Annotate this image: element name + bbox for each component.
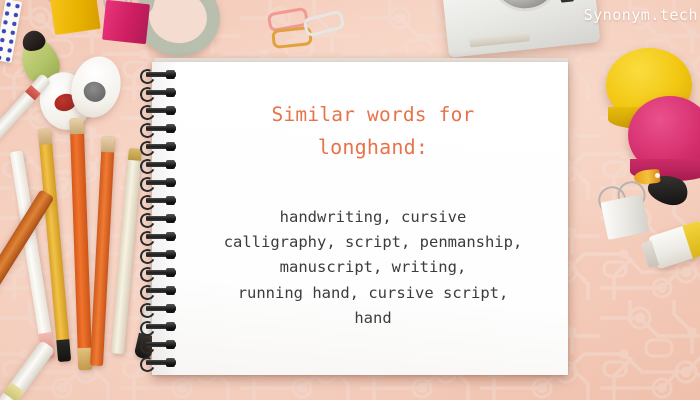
spiral-coil — [140, 160, 184, 169]
glue-tube-label — [682, 220, 700, 258]
macaron-pink — [628, 96, 700, 174]
synonym-line: hand — [186, 306, 560, 331]
spiral-coil — [140, 178, 184, 187]
camera-flash — [560, 0, 574, 3]
eraser-gray-center — [81, 79, 108, 104]
spiral-coil — [140, 142, 184, 151]
toucan-eye — [655, 173, 660, 178]
pencil-tip — [38, 128, 52, 145]
pencil-tip — [101, 136, 115, 153]
similar-words-heading: Similar words for — [186, 100, 560, 130]
spiral-coil — [140, 340, 184, 349]
spiral-coil — [140, 322, 184, 331]
synonym-list: handwriting, cursive calligraphy, script… — [186, 205, 560, 331]
spiral-coil — [140, 358, 184, 367]
spiral-coil — [140, 268, 184, 277]
headword: longhand: — [186, 132, 560, 163]
notepad-content: Similar words for longhand: handwriting,… — [186, 62, 560, 375]
synonym-card-scene: Similar words for longhand: handwriting,… — [0, 0, 700, 400]
synonym-line: manuscript, writing, — [186, 255, 560, 280]
spiral-coil — [140, 250, 184, 259]
clip-body — [102, 0, 150, 44]
spiral-coil — [140, 88, 184, 97]
binder-clip-pink — [102, 0, 150, 44]
spiral-coil — [140, 232, 184, 241]
spiral-coil — [140, 304, 184, 313]
spiral-coil — [140, 214, 184, 223]
camera-lens — [485, 0, 564, 15]
spiral-coil — [140, 106, 184, 115]
pencil-tip — [70, 118, 85, 134]
synonym-line: running hand, cursive script, — [186, 281, 560, 306]
spiral-coil — [140, 286, 184, 295]
spiral-binding — [140, 70, 186, 370]
camera-grip — [469, 32, 530, 47]
spiral-coil — [140, 124, 184, 133]
site-logo: Synonym.tech — [584, 6, 698, 24]
spiral-coil — [140, 196, 184, 205]
synonym-line: calligraphy, script, penmanship, — [186, 230, 560, 255]
pencil-ferrule — [56, 339, 71, 362]
notepad: Similar words for longhand: handwriting,… — [152, 62, 568, 375]
spiral-coil — [140, 70, 184, 79]
synonym-line: handwriting, cursive — [186, 205, 560, 230]
